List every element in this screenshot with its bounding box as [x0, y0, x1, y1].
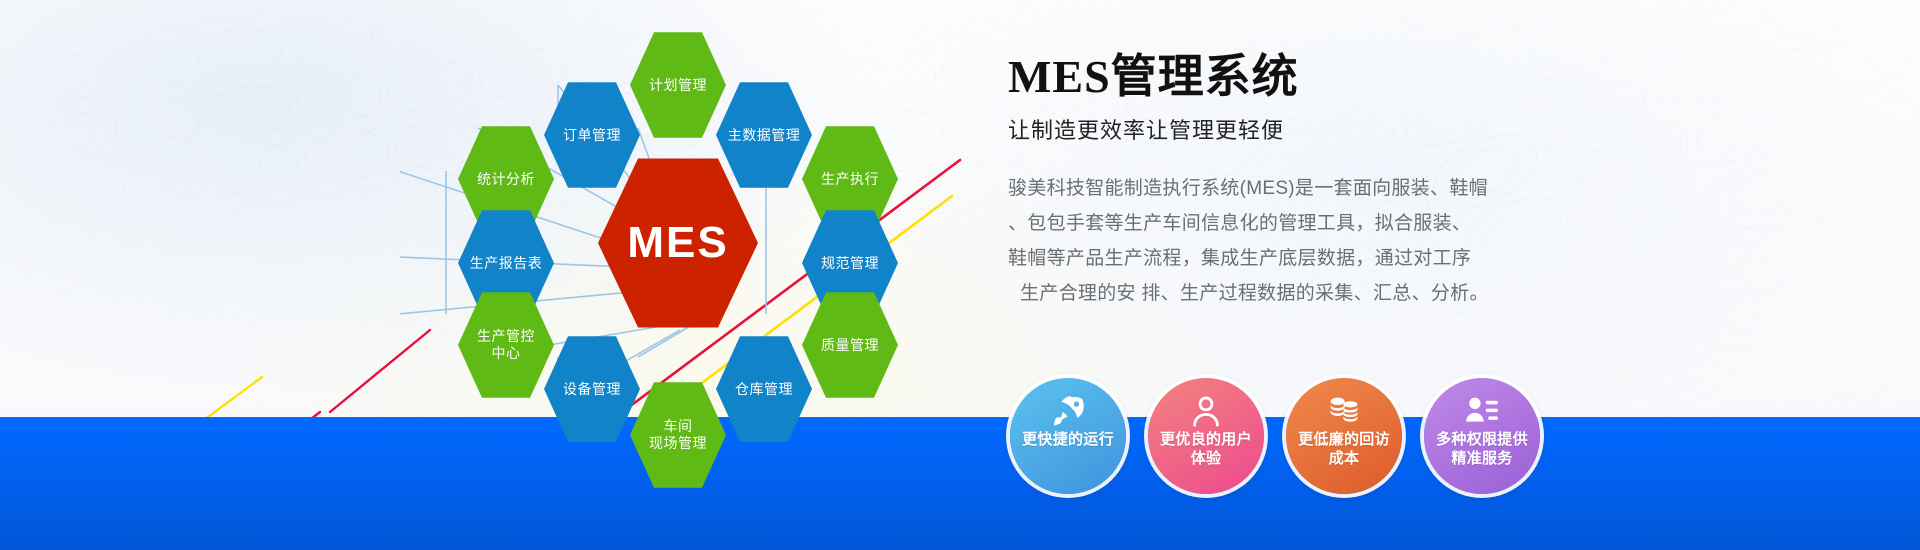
feature-badge-label: 更快捷的运行 — [1014, 430, 1122, 449]
hex-label: 设备管理 — [559, 381, 625, 398]
hex-label: 计划管理 — [645, 77, 711, 94]
page-title: MES管理系统 — [1008, 52, 1608, 103]
page-subtitle: 让制造更效率让管理更轻便 — [1008, 113, 1608, 145]
hex-label: 规范管理 — [817, 255, 883, 272]
feature-badge-multi-permission-service[interactable]: 多种权限提供精准服务 — [1424, 378, 1540, 494]
rocket-icon — [1051, 394, 1085, 428]
hex-label: 订单管理 — [559, 127, 625, 144]
user-icon — [1189, 394, 1223, 428]
hex-label: 生产执行 — [817, 171, 883, 188]
description-line: 鞋帽等产品生产流程，集成生产底层数据，通过对工序 — [1008, 241, 1608, 276]
banner-text-panel: MES管理系统 让制造更效率让管理更轻便 骏美科技智能制造执行系统(MES)是一… — [1008, 52, 1608, 311]
feature-badge-better-user-experience[interactable]: 更优良的用户体验 — [1148, 378, 1264, 494]
feature-badge-label: 多种权限提供精准服务 — [1428, 430, 1536, 468]
hex-label: 统计分析 — [473, 171, 539, 188]
description-line: 生产合理的安 排、生产过程数据的采集、汇总、分析。 — [1008, 276, 1608, 311]
hex-label: 质量管理 — [817, 337, 883, 354]
feature-badge-faster-operation[interactable]: 更快捷的运行 — [1010, 378, 1126, 494]
description-line: 骏美科技智能制造执行系统(MES)是一套面向服装、鞋帽 — [1008, 171, 1608, 206]
feature-badge-label: 更低廉的回访成本 — [1290, 430, 1398, 468]
hex-label: 仓库管理 — [731, 381, 797, 398]
feature-badge-list: 更快捷的运行 更优良的用户体验 — [1010, 378, 1540, 494]
bottom-blue-band — [0, 417, 1920, 550]
hex-core-label: MES — [623, 217, 732, 269]
hex-label: 主数据管理 — [724, 127, 805, 144]
coins-icon — [1327, 394, 1361, 428]
mes-hexagon-diagram: MES 计划管理 订单管理 主数据管理 统计分析 生产执行 生产报告表 规范管理… — [400, 0, 960, 550]
mes-banner: MES 计划管理 订单管理 主数据管理 统计分析 生产执行 生产报告表 规范管理… — [0, 0, 1920, 550]
user-list-icon — [1465, 394, 1499, 428]
hex-label: 车间现场管理 — [645, 418, 711, 451]
banner-description: 骏美科技智能制造执行系统(MES)是一套面向服装、鞋帽 、包包手套等生产车间信息… — [1008, 171, 1608, 312]
description-line: 、包包手套等生产车间信息化的管理工具，拟合服装、 — [1008, 206, 1608, 241]
feature-badge-label: 更优良的用户体验 — [1152, 430, 1260, 468]
hex-label: 生产报告表 — [466, 255, 547, 272]
hex-label: 生产管控中心 — [473, 328, 539, 361]
feature-badge-lower-revisit-cost[interactable]: 更低廉的回访成本 — [1286, 378, 1402, 494]
